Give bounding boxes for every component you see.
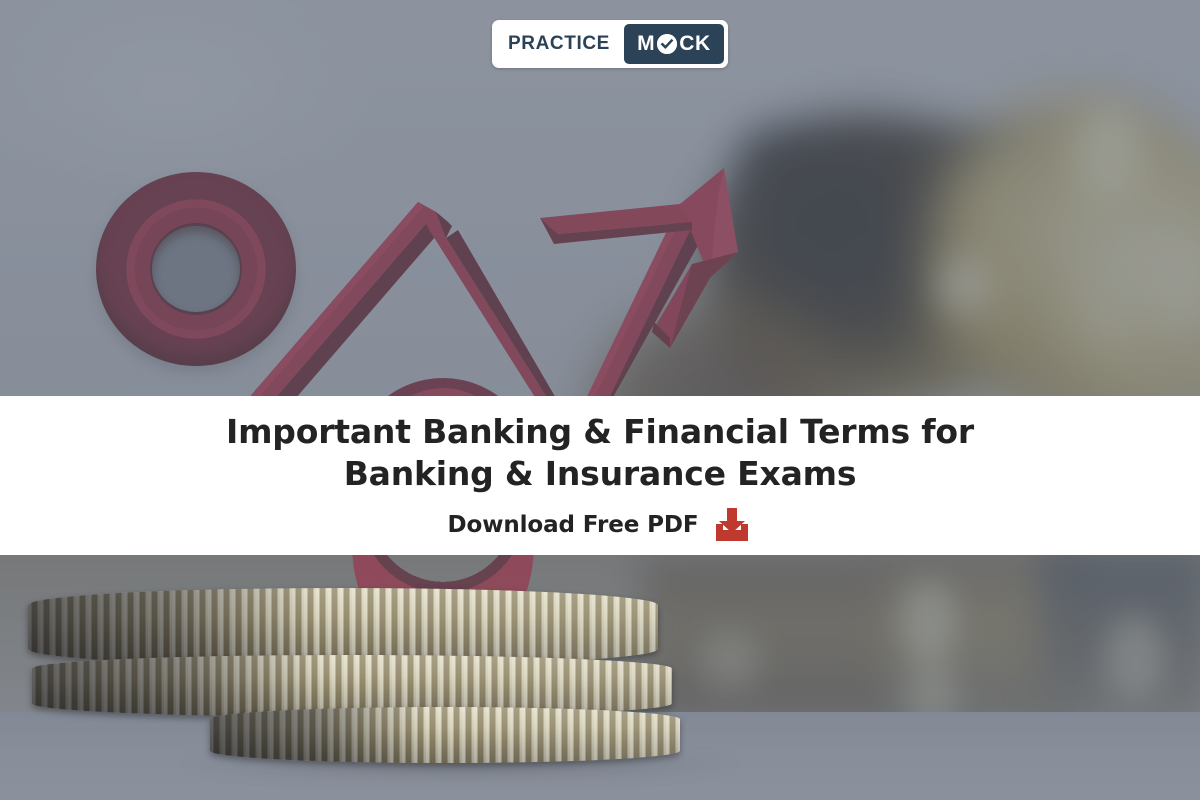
foreground-coin-bottom (210, 707, 680, 763)
check-circle-icon (657, 34, 677, 54)
logo-word-mock: M CK (624, 24, 724, 64)
logo-letter-m: M (637, 32, 655, 56)
practicemock-logo[interactable]: PRACTICE M CK (492, 20, 728, 68)
promo-banner: PRACTICE M CK Important Banking & Financ… (0, 0, 1200, 800)
page-title-line-1: Important Banking & Financial Terms for (226, 411, 974, 453)
headline-band: Important Banking & Financial Terms for … (0, 396, 1200, 555)
logo-word-practice: PRACTICE (496, 24, 624, 64)
download-cta-label: Download Free PDF (448, 512, 699, 538)
page-title-line-2: Banking & Insurance Exams (226, 453, 974, 495)
page-title: Important Banking & Financial Terms for … (226, 411, 974, 495)
download-icon[interactable] (712, 506, 752, 544)
download-cta[interactable]: Download Free PDF (448, 506, 753, 544)
logo-letters-ck: CK (679, 32, 711, 56)
